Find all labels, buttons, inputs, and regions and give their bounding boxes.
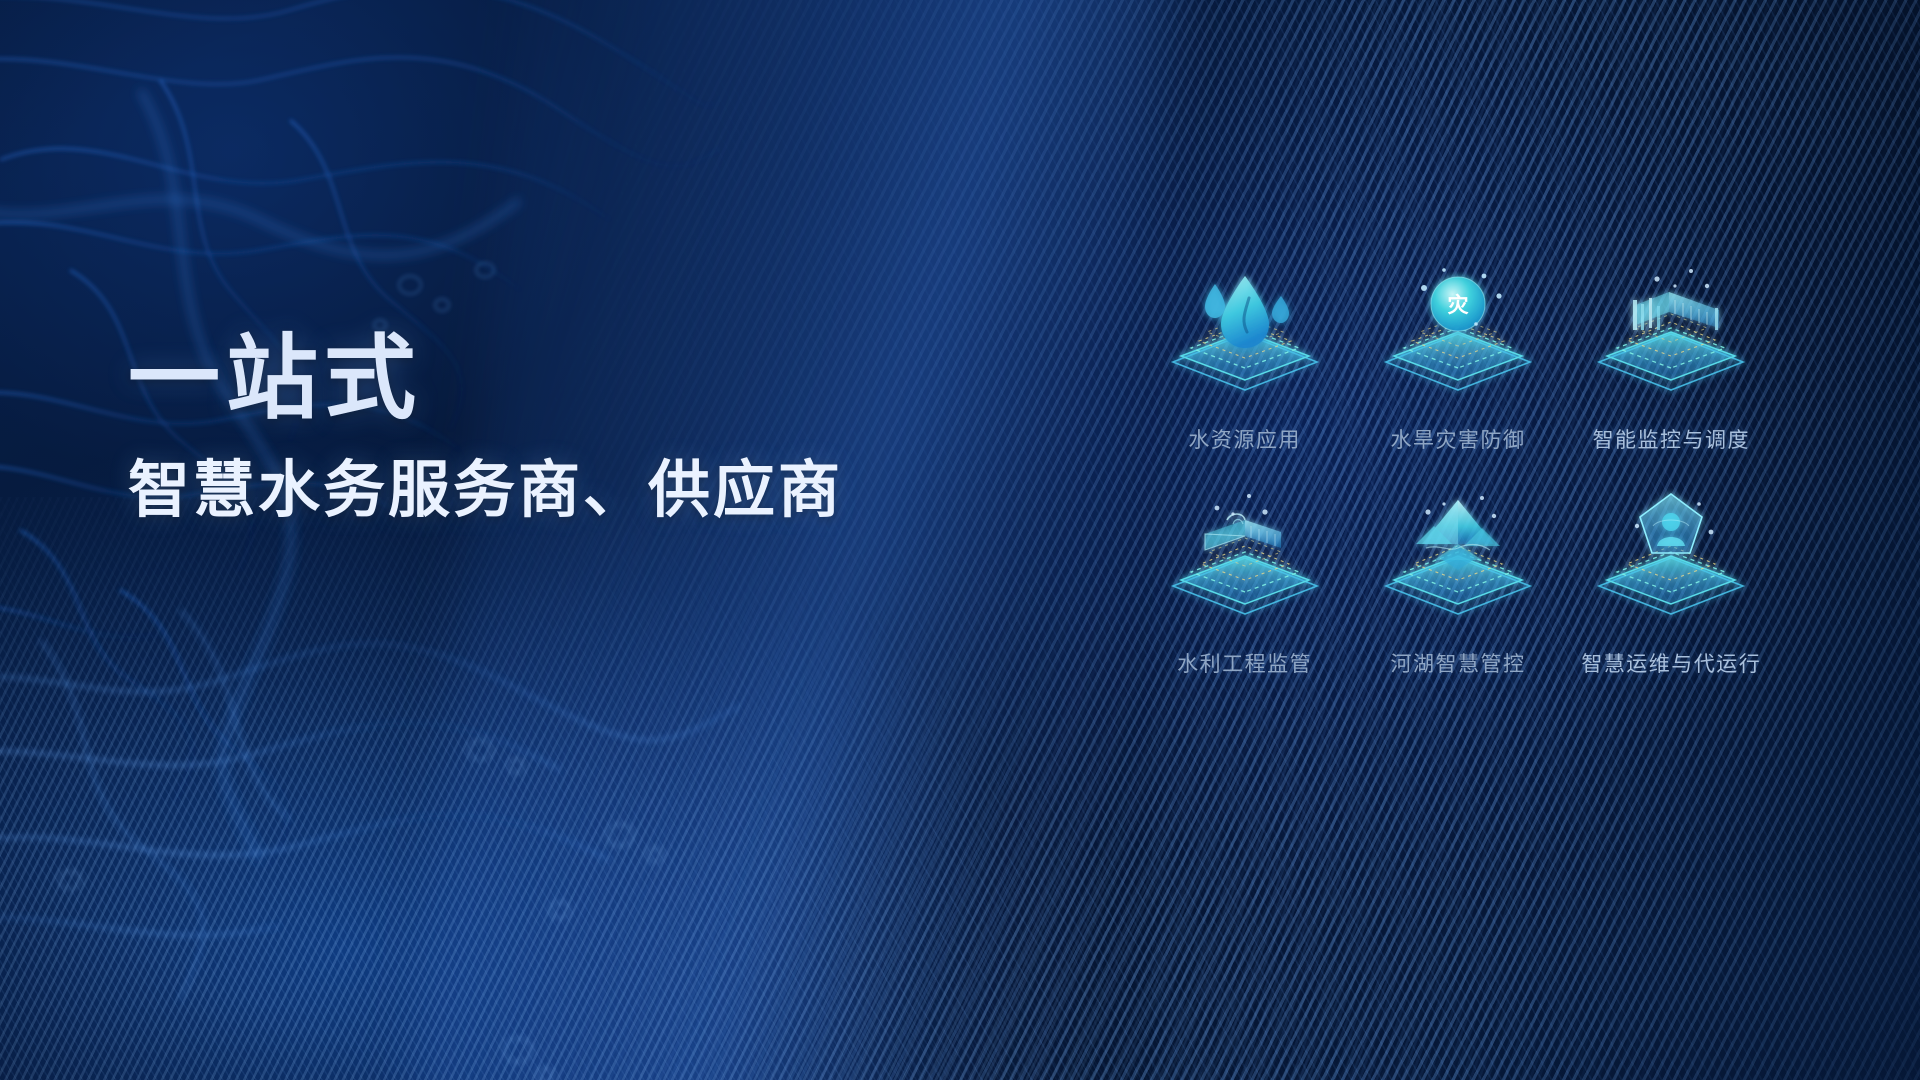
dam-monitoring-platform-icon	[1571, 262, 1771, 412]
service-item-label: 水利工程监管	[1177, 648, 1312, 678]
river-lake-terrain-platform-icon	[1358, 486, 1558, 636]
service-item-hydro-engineering[interactable]: 水利工程监管	[1138, 486, 1351, 710]
disaster-character: 灾	[1447, 293, 1469, 317]
water-drop-platform-icon	[1145, 262, 1345, 412]
disaster-sphere-platform-icon: 灾	[1358, 262, 1558, 412]
page-title: 一站式	[128, 330, 1068, 429]
page-subtitle: 智慧水务服务商、供应商	[128, 455, 1068, 526]
service-item-label: 水资源应用	[1188, 424, 1301, 454]
service-item-smart-operations[interactable]: 智慧运维与代运行	[1565, 486, 1778, 710]
hydro-engineering-platform-icon	[1145, 486, 1345, 636]
service-item-water-resource[interactable]: 水资源应用	[1138, 262, 1351, 486]
headline-block: 一站式 智慧水务服务商、供应商	[128, 330, 1068, 527]
service-item-smart-monitoring[interactable]: 智能监控与调度	[1565, 262, 1778, 486]
service-item-label: 河湖智慧管控	[1390, 648, 1525, 678]
slide-canvas: 一站式 智慧水务服务商、供应商	[0, 0, 1920, 1080]
service-item-label: 智慧运维与代运行	[1581, 648, 1761, 678]
service-icon-grid: 水资源应用	[1138, 262, 1778, 710]
service-item-flood-drought-defense[interactable]: 灾 水旱灾害防御	[1351, 262, 1564, 486]
service-item-label: 智能监控与调度	[1593, 424, 1751, 454]
service-item-label: 水旱灾害防御	[1390, 424, 1525, 454]
water-texture-bottom-left	[0, 580, 740, 1080]
shield-operations-platform-icon	[1571, 486, 1771, 636]
light-sweep	[367, 0, 1208, 1080]
service-item-river-lake-control[interactable]: 河湖智慧管控	[1351, 486, 1564, 710]
